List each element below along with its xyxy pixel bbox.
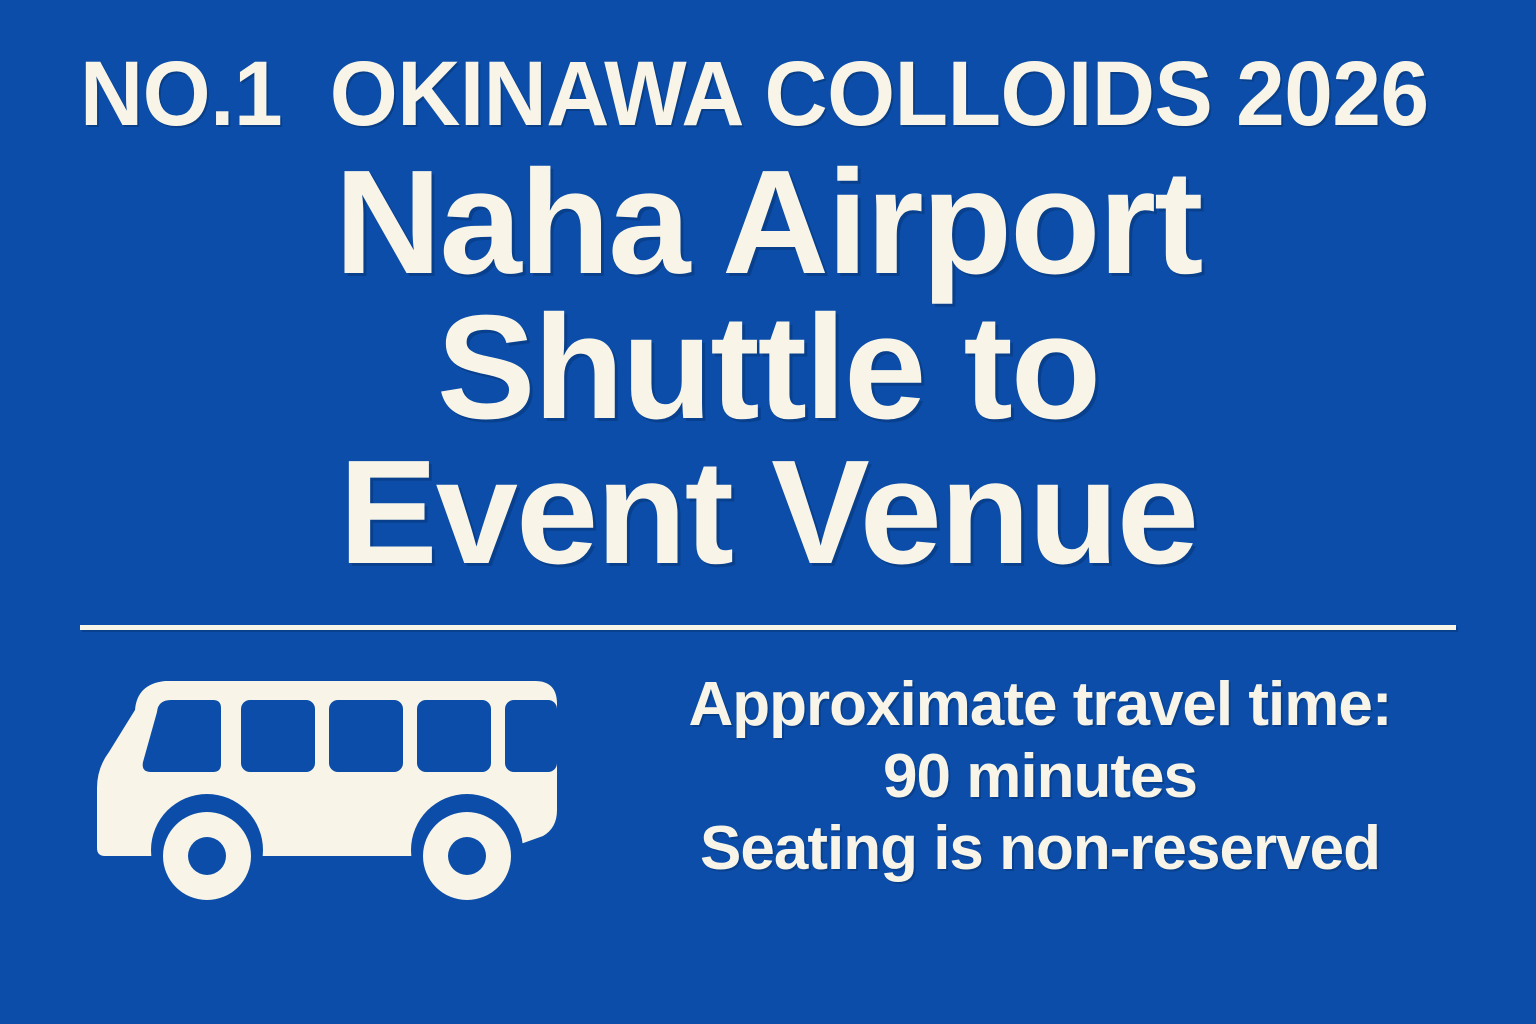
details-section: Approximate travel time: 90 minutes Seat… bbox=[0, 655, 1536, 915]
travel-info: Approximate travel time: 90 minutes Seat… bbox=[600, 669, 1480, 885]
travel-time-value: 90 minutes bbox=[600, 741, 1480, 813]
page-title: Naha Airport Shuttle to Event Venue bbox=[0, 150, 1536, 585]
title-line-2: Shuttle to bbox=[0, 295, 1536, 440]
title-line-1: Naha Airport bbox=[0, 150, 1536, 295]
seating-policy: Seating is non-reserved bbox=[600, 813, 1480, 885]
title-line-3: Event Venue bbox=[0, 440, 1536, 585]
section-divider bbox=[80, 625, 1456, 630]
bus-icon bbox=[95, 660, 575, 900]
event-name-header: NO.1 OKINAWA COLLOIDS 2026 bbox=[80, 48, 1387, 140]
travel-time-label: Approximate travel time: bbox=[600, 669, 1480, 741]
shuttle-information-sign: NO.1 OKINAWA COLLOIDS 2026 Naha Airport … bbox=[0, 0, 1536, 1024]
